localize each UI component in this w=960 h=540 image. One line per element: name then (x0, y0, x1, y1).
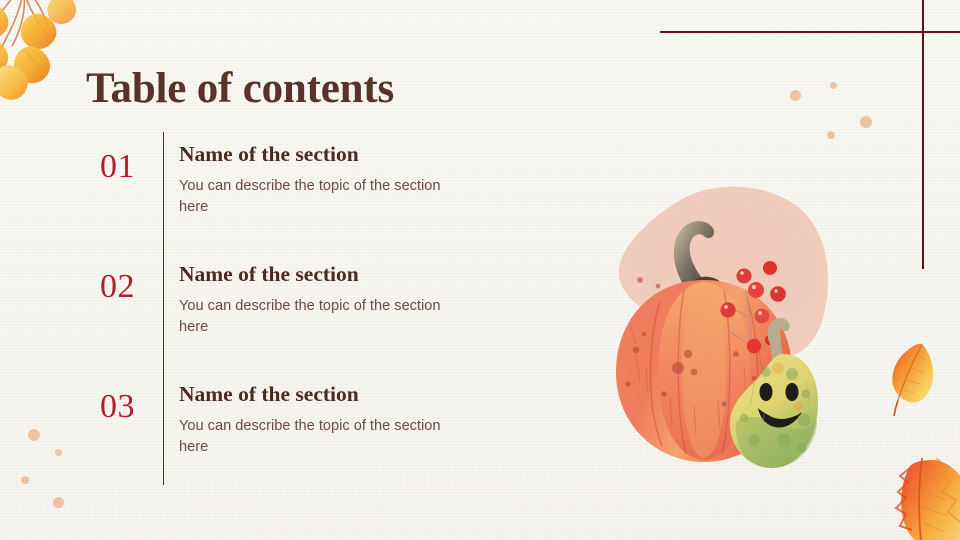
decorative-dot (21, 476, 29, 484)
page-title: Table of contents (86, 66, 394, 111)
toc-item-heading: Name of the section (179, 380, 489, 409)
autumn-leaf-icon (882, 340, 944, 418)
toc-item-number: 01 (100, 148, 154, 186)
list-item[interactable]: 01 Name of the section You can describe … (96, 140, 496, 250)
list-item[interactable]: 03 Name of the section You can describe … (96, 380, 496, 490)
autumn-leaf-icon (888, 444, 960, 540)
decorative-dot (860, 116, 872, 128)
toc-item-heading: Name of the section (179, 140, 489, 169)
toc-item-text: Name of the section You can describe the… (179, 140, 489, 217)
toc-item-heading: Name of the section (179, 260, 489, 289)
toc-item-description: You can describe the topic of the sectio… (179, 416, 461, 457)
slide-canvas: Table of contents 01 Name of the section… (0, 0, 960, 540)
decorative-dot (28, 429, 40, 441)
toc-item-number: 03 (100, 388, 154, 426)
decorative-dot (53, 497, 64, 508)
list-item[interactable]: 02 Name of the section You can describe … (96, 260, 496, 370)
vertical-accent-line (922, 0, 924, 269)
autumn-leaf-branch-icon (0, 0, 118, 110)
table-of-contents-list: 01 Name of the section You can describe … (96, 132, 496, 488)
decorative-dot (790, 90, 801, 101)
toc-item-text: Name of the section You can describe the… (179, 380, 489, 457)
decorative-dot (827, 131, 835, 139)
toc-item-number: 02 (100, 268, 154, 306)
toc-item-description: You can describe the topic of the sectio… (179, 296, 461, 337)
toc-item-description: You can describe the topic of the sectio… (179, 176, 461, 217)
toc-item-text: Name of the section You can describe the… (179, 260, 489, 337)
horizontal-accent-line (660, 31, 960, 33)
watercolor-pumpkin-icon (558, 168, 850, 480)
decorative-dot (55, 449, 62, 456)
decorative-dot (830, 82, 837, 89)
